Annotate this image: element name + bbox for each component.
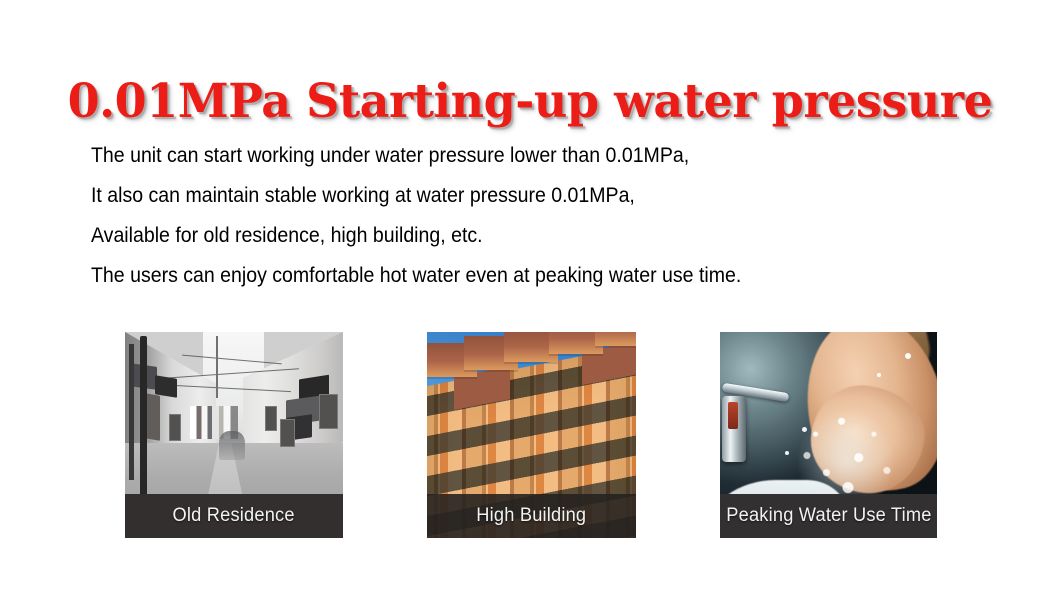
utility-pole (216, 336, 218, 398)
slide-canvas: 0.01MPa Starting-up water pressure The u… (0, 0, 1060, 596)
awning (155, 376, 177, 398)
window (280, 419, 295, 448)
photo-strip: Old Residence High Building (85, 316, 977, 554)
roof-cap (595, 332, 636, 346)
photo-caption-old-residence: Old Residence (125, 494, 343, 538)
roof-caps (427, 332, 636, 381)
body-copy: The unit can start working under water p… (91, 136, 951, 296)
drainpipe (140, 336, 147, 497)
window (169, 414, 182, 441)
caption-text: Peaking Water Use Time (726, 505, 931, 527)
drainpipe (129, 344, 134, 480)
caption-text: High Building (476, 505, 586, 527)
photo-high-building: High Building (427, 332, 636, 538)
photo-peaking-water-use: Peaking Water Use Time (720, 332, 937, 538)
water-droplet (905, 353, 911, 359)
water-droplet (877, 373, 881, 377)
faucet-handle (728, 402, 739, 429)
page-title: 0.01MPa Starting-up water pressure (11, 77, 1050, 128)
body-line-1: The unit can start working under water p… (91, 136, 891, 176)
body-line-3: Available for old residence, high buildi… (91, 216, 891, 256)
body-line-4: The users can enjoy comfortable hot wate… (91, 256, 891, 296)
window (319, 394, 338, 429)
alley-pedestrians (219, 431, 245, 460)
photo-caption-high-building: High Building (427, 494, 636, 538)
photo-caption-peaking-water-use: Peaking Water Use Time (720, 494, 937, 538)
body-line-2: It also can maintain stable working at w… (91, 176, 891, 216)
window (265, 406, 278, 431)
caption-text: Old Residence (173, 505, 295, 527)
photo-old-residence: Old Residence (125, 332, 343, 538)
